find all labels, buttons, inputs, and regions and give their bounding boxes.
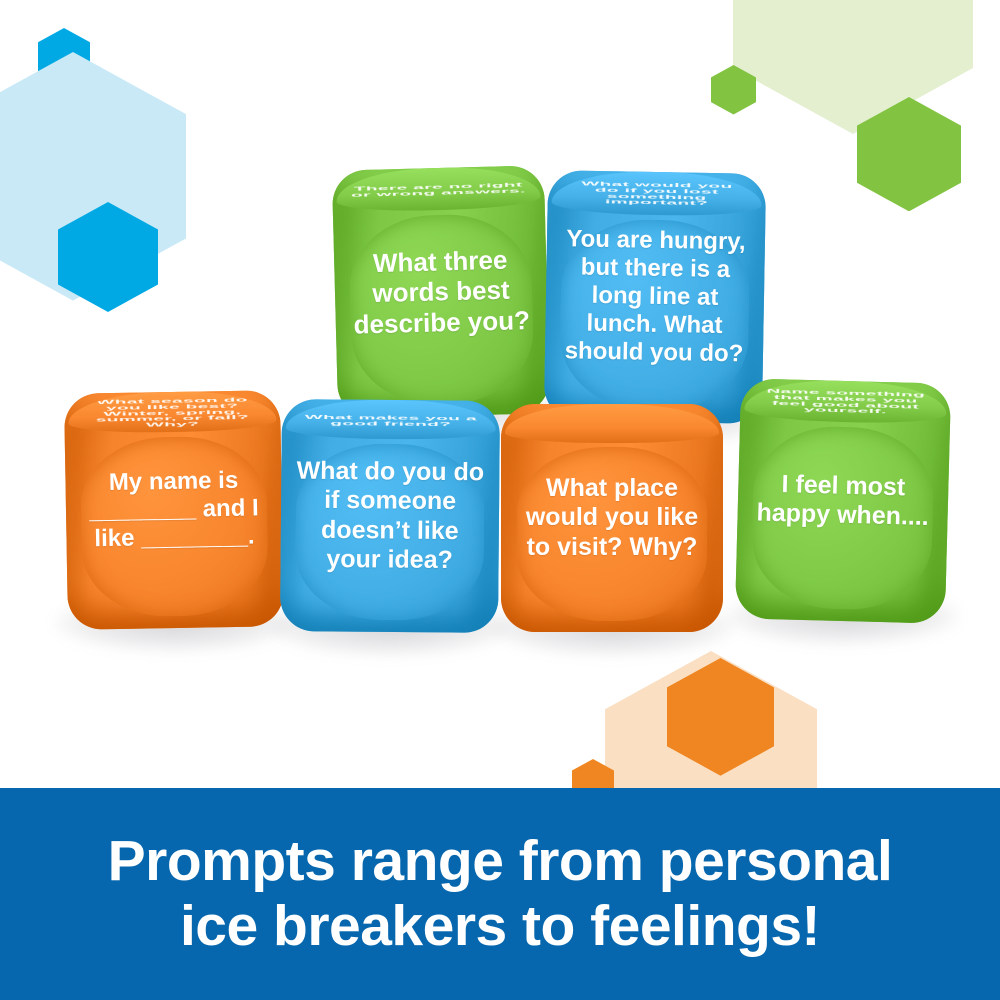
cube-top-face [505,404,718,443]
cube-bottom-orange-left: What season do you like best? Winter, sp… [64,390,284,630]
cube-body: There are no right or wrong answers.What… [332,165,550,418]
cube-top-face-text: Name something that makes you feel good … [759,388,933,416]
cube-top-face: What season do you like best? Winter, sp… [68,390,276,434]
cube-top-face-text: What makes you a good friend? [301,414,481,427]
cube-bottom-orange-right: What place would you like to visit? Why? [501,404,723,632]
cube-body: What season do you like best? Winter, sp… [64,390,284,630]
cube-prompt-text: My name is ________ and I like ________. [78,466,270,554]
cube-bottom-blue: What makes you a good friend?What do you… [280,399,500,633]
caption-line-1: Prompts range from personal [30,829,970,894]
cube-top-face: What would you do if you lost something … [552,170,762,216]
cube-prompt-text: What three words best describe you? [347,244,536,340]
cube-top-face: Name something that makes you feel good … [744,378,947,424]
cube-prompt-text: What do you do if someone doesn’t like y… [294,457,487,576]
caption-banner: Prompts range from personal ice breakers… [0,788,1000,1000]
cube-prompt-text: You are hungry, but there is a long line… [558,225,752,369]
caption-banner-text: Prompts range from personal ice breakers… [30,829,970,959]
conversation-cubes-photo: There are no right or wrong answers.What… [0,0,1000,790]
cube-body: What makes you a good friend?What do you… [280,399,500,633]
cube-bottom-green: Name something that makes you feel good … [735,378,951,623]
cube-body: What would you do if you lost something … [544,170,766,424]
cube-top-face: There are no right or wrong answers. [336,165,541,212]
marketing-image: There are no right or wrong answers.What… [0,0,1000,1000]
cube-top-blue: What would you do if you lost something … [544,170,766,424]
cube-body: What place would you like to visit? Why? [501,404,723,632]
cube-prompt-text: What place would you like to visit? Why? [514,474,709,562]
cube-top-face-text: What season do you like best? Winter, sp… [83,396,262,429]
cube-top-face-text: What would you do if you lost something … [567,181,747,208]
cube-prompt-text: I feel most happy when.... [750,469,936,532]
cube-top-green: There are no right or wrong answers.What… [332,165,550,418]
caption-line-2: ice breakers to feelings! [30,894,970,959]
cube-top-face: What makes you a good friend? [286,399,496,440]
cube-body: Name something that makes you feel good … [735,378,951,623]
cube-top-face-text: There are no right or wrong answers. [351,182,526,198]
